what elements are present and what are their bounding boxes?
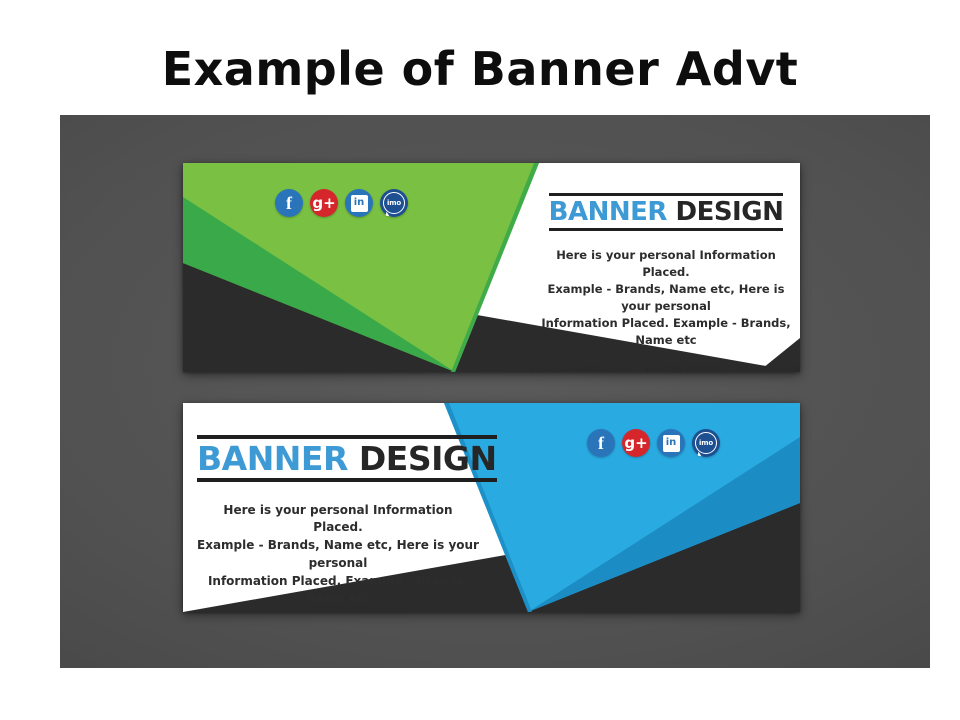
imo-icon[interactable]: imo [692, 429, 720, 457]
banner-blue-text-block: BANNER DESIGN Here is your personal Info… [197, 435, 479, 612]
heading-word-primary: BANNER [549, 197, 667, 227]
heading-word-primary: BANNER [197, 439, 348, 478]
google-plus-icon[interactable]: g+ [622, 429, 650, 457]
body-line: Here is your personal Information Placed… [197, 502, 479, 538]
google-plus-icon[interactable]: g+ [310, 189, 338, 217]
body-line: Example - Brands, Name etc, Here is your… [535, 281, 797, 315]
social-icon-row: f g+ in imo [275, 189, 408, 217]
footer-email: info@mail.com [737, 365, 800, 372]
banner-body-text: Here is your personal Information Placed… [197, 502, 479, 609]
body-line: Information Placed. Example - Brands, Na… [197, 573, 479, 609]
footer-website: www.yourwebsite.com [528, 365, 629, 372]
body-line: Here is your personal Information Placed… [535, 247, 797, 281]
banner-green-text-block: BANNER DESIGN Here is your personal Info… [535, 193, 797, 372]
heading-word-secondary: DESIGN [675, 197, 783, 227]
body-line: Example - Brands, Name etc, Here is your… [197, 537, 479, 573]
banner-footer-contact: www.yourwebsite.com +00 000 000 000 info… [535, 365, 797, 372]
banner-heading: BANNER DESIGN [549, 193, 784, 231]
linkedin-icon[interactable]: in [345, 189, 373, 217]
imo-icon[interactable]: imo [380, 189, 408, 217]
heading-word-secondary: DESIGN [359, 439, 497, 478]
banner-card-green: f g+ in imo BANNER DESIGN Here is your p… [183, 163, 800, 372]
footer-phone: +00 000 000 000 [643, 365, 722, 372]
banner-showcase-panel: f g+ in imo BANNER DESIGN Here is your p… [60, 115, 930, 668]
facebook-icon[interactable]: f [587, 429, 615, 457]
body-line: Information Placed. Example - Brands, Na… [535, 315, 797, 349]
banner-card-blue: f g+ in imo BANNER DESIGN Here is your p… [183, 403, 800, 612]
linkedin-icon[interactable]: in [657, 429, 685, 457]
banner-heading: BANNER DESIGN [197, 435, 497, 482]
banner-body-text: Here is your personal Information Placed… [535, 247, 797, 349]
facebook-icon[interactable]: f [275, 189, 303, 217]
page-title: Example of Banner Advt [0, 42, 960, 96]
social-icon-row: f g+ in imo [587, 429, 720, 457]
